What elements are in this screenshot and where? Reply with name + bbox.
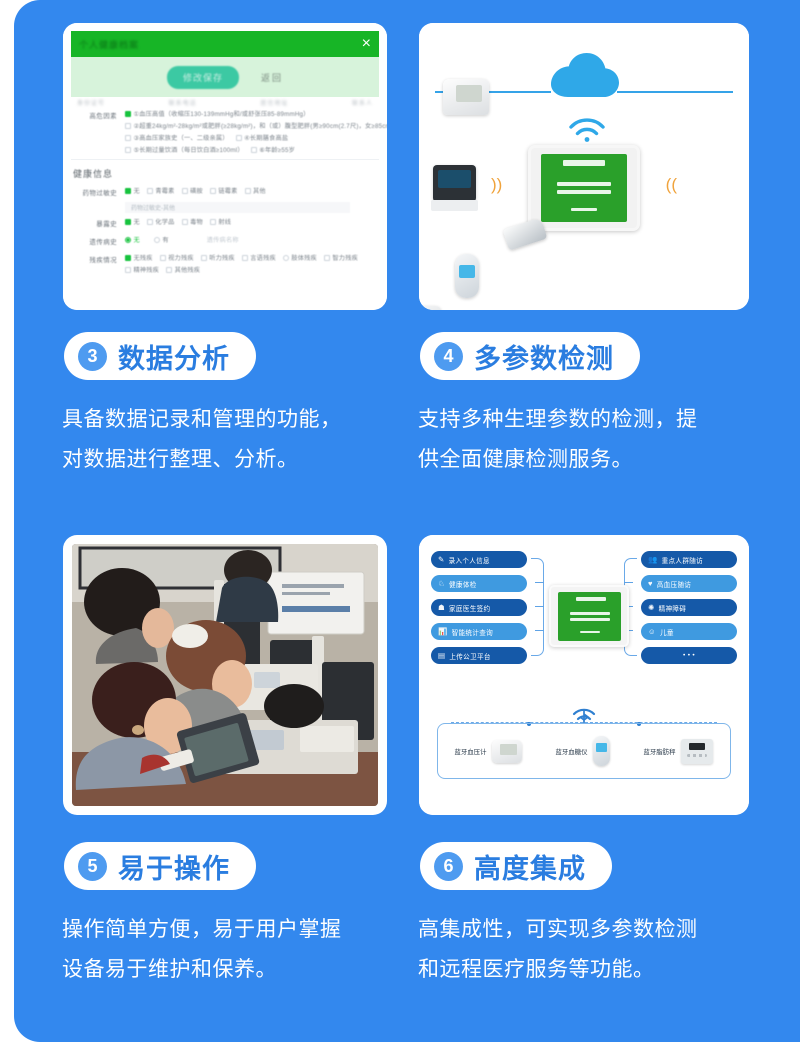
checkbox-icon[interactable]: [160, 255, 166, 261]
device-cell: 蓝牙血糖仪: [556, 736, 611, 766]
card-high-integration-image: ✎ 录入个人信息 ♘ 健康体检 ☗ 家庭医生签约 📊 智能统计查询: [419, 535, 749, 815]
flow-button-label: 健康体检: [449, 579, 477, 589]
checkbox-icon[interactable]: [125, 188, 131, 194]
checkbox-icon[interactable]: [125, 111, 131, 117]
checkbox-option[interactable]: 无: [125, 186, 140, 195]
form-row-risk-factors: 高危因素 ①血压高值（收缩压130-139mmHg和/或舒张压85-89mmHg…: [71, 109, 379, 154]
option-label: ⑤长期过量饮酒（每日饮白酒≥100ml）: [134, 145, 244, 154]
connector-line-right: [617, 91, 733, 93]
option-label: 无: [134, 186, 140, 195]
ghost-field: 居住地址: [260, 98, 288, 107]
blood-pressure-monitor-icon: [443, 79, 489, 115]
description-line: 和远程医疗服务等功能。: [418, 950, 748, 990]
flow-button-label: 家庭医生签约: [449, 603, 490, 613]
flow-button-label: 上传公卫平台: [449, 651, 490, 661]
checkbox-option[interactable]: 射线: [210, 217, 231, 226]
option-label: 射线: [218, 217, 231, 226]
glucose-meter-icon: [455, 254, 479, 298]
ghost-field: 联系电话: [169, 98, 197, 107]
flow-button-left[interactable]: ♘ 健康体检: [431, 575, 527, 592]
checkbox-icon[interactable]: [210, 219, 216, 225]
card-title: 高度集成: [474, 847, 586, 886]
card-description-multiparameter: 支持多种生理参数的检测，提 供全面健康检测服务。: [418, 400, 748, 480]
checkbox-option[interactable]: 青霉素: [147, 186, 175, 195]
option-label: 青霉素: [155, 186, 174, 195]
option-label: 无: [134, 217, 140, 226]
flow-button-label: 智能统计查询: [452, 627, 493, 637]
description-line: 高集成性，可实现多参数检测: [418, 910, 748, 950]
option-label: 肢体残疾: [291, 253, 317, 262]
stethoscope-icon: ♘: [438, 580, 445, 588]
more-icon: • • •: [683, 652, 695, 659]
checkbox-option[interactable]: ①血压高值（收缩压130-139mmHg和/或舒张压85-89mmHg）: [125, 109, 387, 118]
checkbox-option[interactable]: 智力残疾: [324, 253, 358, 262]
card-heading-high-integration: 6 高度集成: [420, 842, 612, 890]
flow-button-right[interactable]: ☺ 儿童: [641, 623, 737, 640]
card-easy-operation-image: [63, 535, 387, 815]
card-title: 数据分析: [118, 337, 230, 376]
checkbox-icon[interactable]: [324, 255, 330, 261]
option-label: 无残疾: [134, 253, 153, 262]
checkbox-option[interactable]: ④长期膳食高盐: [236, 133, 289, 142]
card-number-badge: 4: [434, 342, 463, 371]
form-action-bar: 修改保存 返回: [71, 57, 379, 97]
description-line: 对数据进行整理、分析。: [62, 440, 392, 480]
device-label: 蓝牙血压计: [455, 747, 487, 756]
flow-button-label: 儿童: [660, 627, 674, 637]
form-ghost-fields: 身份证号 联系电话 居住地址 联系人: [77, 97, 373, 107]
checkbox-option[interactable]: ③高血压家族史（一、二级亲属）: [125, 133, 229, 142]
hereditary-name-input[interactable]: 遗传病名称: [207, 235, 239, 244]
checkbox-option[interactable]: ⑥年龄≥55岁: [251, 145, 295, 154]
option-label: 有: [162, 235, 168, 244]
checkbox-option[interactable]: 其他残疾: [166, 265, 200, 274]
form-screenshot: 个人健康档案 × 修改保存 返回 身份证号 联系电话 居住地址 联系人 高危: [63, 23, 387, 310]
blood-pressure-icon: [492, 740, 522, 763]
checkbox-icon[interactable]: [147, 188, 153, 194]
pulse-oximeter-icon: [419, 306, 441, 310]
tablet-screen: [541, 154, 627, 222]
option-label: 无: [134, 235, 140, 244]
device-topology-diagram: )) ((: [419, 23, 749, 310]
radio-icon[interactable]: [125, 237, 131, 243]
drug-allergy-other-input[interactable]: 药物过敏史-其他: [125, 202, 350, 213]
checkbox-option[interactable]: 无: [125, 217, 140, 226]
connector-tick: [535, 630, 544, 631]
card-number-badge: 5: [78, 852, 107, 881]
checkbox-icon[interactable]: [125, 147, 131, 153]
flow-button-label: 高血压随访: [657, 579, 691, 589]
checkbox-icon[interactable]: [182, 219, 188, 225]
connector-tick: [535, 582, 544, 583]
option-label: 听力残疾: [209, 253, 235, 262]
checkbox-option[interactable]: 无残疾: [125, 253, 153, 262]
card-description-data-analysis: 具备数据记录和管理的功能， 对数据进行整理、分析。: [62, 400, 392, 480]
hereditary-option-group: 无 有 遗传病名称: [117, 235, 239, 244]
chart-icon: 📊: [438, 628, 448, 636]
description-line: 供全面健康检测服务。: [418, 440, 748, 480]
checkbox-option[interactable]: 肢体残疾: [283, 253, 317, 262]
card-title: 多参数检测: [474, 337, 614, 376]
flow-button-right[interactable]: ♥ 高血压随访: [641, 575, 737, 592]
checkbox-icon[interactable]: [125, 219, 131, 225]
card-heading-multiparameter: 4 多参数检测: [420, 332, 640, 380]
bluetooth-signal-icon: )): [491, 175, 502, 195]
form-window-title: 个人健康档案: [79, 38, 139, 51]
field-label: 遗传病史: [71, 235, 117, 246]
checkbox-option[interactable]: 磺胺: [182, 186, 203, 195]
checkbox-icon[interactable]: [201, 255, 207, 261]
pen-icon: ✎: [438, 556, 445, 564]
card-description-easy-operation: 操作简单方便，易于用户掌握 设备易于维护和保养。: [62, 910, 392, 990]
checkbox-icon[interactable]: [125, 135, 131, 141]
checkbox-icon[interactable]: [245, 188, 251, 194]
exposure-option-group: 无 化学品 毒物 射线: [117, 217, 231, 226]
card-description-high-integration: 高集成性，可实现多参数检测 和远程医疗服务等功能。: [418, 910, 748, 990]
tablet-screen: [558, 592, 621, 641]
cloud-icon: [551, 53, 619, 104]
device-label: 蓝牙脂肪秤: [644, 747, 676, 756]
device-cell: 蓝牙脂肪秤: [644, 739, 714, 764]
drug-allergy-option-group: 无 青霉素 磺胺 链霉: [117, 186, 266, 195]
divider: [71, 159, 379, 160]
checkbox-option[interactable]: 其他: [245, 186, 266, 195]
flow-button-left[interactable]: 📊 智能统计查询: [431, 623, 527, 640]
option-label: 智力残疾: [332, 253, 358, 262]
tablet-device: [549, 585, 629, 647]
option-label: ⑥年龄≥55岁: [259, 145, 295, 154]
option-label: 精神残疾: [134, 265, 160, 274]
radio-option[interactable]: 有: [154, 235, 169, 244]
upload-icon: ▤: [438, 652, 445, 660]
connector-tick: [535, 606, 544, 607]
card-heading-data-analysis: 3 数据分析: [64, 332, 256, 380]
patient-monitor-icon: [433, 165, 476, 202]
flow-button-label: 精神障碍: [659, 603, 687, 613]
checkbox-icon[interactable]: [125, 123, 131, 129]
ghost-field: 身份证号: [77, 98, 105, 107]
checkbox-option[interactable]: 听力残疾: [201, 253, 235, 262]
flow-button-left[interactable]: ▤ 上传公卫平台: [431, 647, 527, 664]
flow-button-label: 录入个人信息: [449, 555, 490, 565]
device-cell: 蓝牙血压计: [455, 740, 523, 763]
checkbox-icon[interactable]: [236, 135, 242, 141]
bluetooth-device-bar: 蓝牙血压计 蓝牙血糖仪 蓝牙脂肪秤: [437, 723, 731, 779]
feature-grid: 个人健康档案 × 修改保存 返回 身份证号 联系电话 居住地址 联系人 高危: [0, 0, 800, 1064]
bluetooth-signal-icon: ((: [666, 175, 677, 195]
option-label: ④长期膳食高盐: [244, 133, 288, 142]
description-line: 支持多种生理参数的检测，提: [418, 400, 748, 440]
training-photo: [72, 544, 378, 806]
child-icon: ☺: [648, 628, 656, 636]
checkbox-icon[interactable]: [125, 267, 131, 273]
close-icon[interactable]: ×: [362, 36, 371, 52]
checkbox-icon[interactable]: [182, 188, 188, 194]
description-line: 设备易于维护和保养。: [62, 950, 392, 990]
checkbox-icon[interactable]: [147, 219, 153, 225]
form-row-hereditary: 遗传病史 无 有 遗传病名称: [71, 235, 379, 246]
section-title-health-info: 健康信息: [73, 167, 379, 180]
option-label: 毒物: [190, 217, 203, 226]
flow-button-left[interactable]: ☗ 家庭医生签约: [431, 599, 527, 616]
back-button[interactable]: 返回: [261, 71, 283, 84]
checkbox-icon[interactable]: [242, 255, 248, 261]
checkbox-option[interactable]: 化学品: [147, 217, 175, 226]
field-label: 高危因素: [71, 109, 117, 120]
card-data-analysis-image: 个人健康档案 × 修改保存 返回 身份证号 联系电话 居住地址 联系人 高危: [63, 23, 387, 310]
form-row-drug-allergy: 药物过敏史 无 青霉素 磺: [71, 186, 379, 197]
ghost-field: 联系人: [352, 98, 373, 107]
checkbox-icon[interactable]: [166, 267, 172, 273]
card-heading-easy-operation: 5 易于操作: [64, 842, 256, 890]
option-label: 其他残疾: [175, 265, 201, 274]
card-number-badge: 3: [78, 342, 107, 371]
description-line: 具备数据记录和管理的功能，: [62, 400, 392, 440]
checkbox-option[interactable]: ⑤长期过量饮酒（每日饮白酒≥100ml）: [125, 145, 244, 154]
option-label: 视力残疾: [168, 253, 194, 262]
save-button[interactable]: 修改保存: [167, 66, 239, 89]
option-label: ③高血压家族史（一、二级亲属）: [134, 133, 229, 142]
risk-option-group: ①血压高值（收缩压130-139mmHg和/或舒张压85-89mmHg） ②超重…: [117, 109, 387, 154]
checkbox-option[interactable]: 毒物: [182, 217, 203, 226]
flow-button-right[interactable]: 👥 重点人群随访: [641, 551, 737, 568]
heart-icon: ♥: [648, 580, 653, 588]
doctor-icon: ☗: [438, 604, 445, 612]
integration-flow-diagram: ✎ 录入个人信息 ♘ 健康体检 ☗ 家庭医生签约 📊 智能统计查询: [419, 535, 749, 815]
card-title: 易于操作: [118, 847, 230, 886]
checkbox-option[interactable]: 精神残疾: [125, 265, 159, 274]
form-row-disability: 残疾情况 无残疾 视力残疾: [71, 253, 379, 274]
fat-scale-icon: [681, 739, 713, 764]
checkbox-icon[interactable]: [283, 255, 289, 261]
device-label: 蓝牙血糖仪: [556, 747, 588, 756]
checkbox-icon[interactable]: [251, 147, 257, 153]
flow-button-more[interactable]: • • •: [641, 647, 737, 664]
checkbox-option[interactable]: 链霉素: [210, 186, 238, 195]
checkbox-icon[interactable]: [210, 188, 216, 194]
wifi-icon: [567, 118, 607, 147]
flow-button-left[interactable]: ✎ 录入个人信息: [431, 551, 527, 568]
flow-button-label: 重点人群随访: [662, 555, 703, 565]
tablet-device: [528, 145, 640, 231]
checkbox-option[interactable]: 视力残疾: [160, 253, 194, 262]
card-number-badge: 6: [434, 852, 463, 881]
checkbox-option[interactable]: 言语残疾: [242, 253, 276, 262]
form-body: 高危因素 ①血压高值（收缩压130-139mmHg和/或舒张压85-89mmHg…: [71, 109, 379, 304]
checkbox-icon[interactable]: [125, 255, 131, 261]
connector-tick: [624, 582, 633, 583]
option-label: 链霉素: [218, 186, 237, 195]
barcode-scanner-icon: [503, 217, 548, 250]
card-multiparameter-image: )) ((: [419, 23, 749, 310]
brain-icon: ✺: [648, 604, 655, 612]
checkbox-option[interactable]: ②超重24kg/m²-28kg/m²或肥胖(≥28kg/m²)，和（或）腹型肥胖…: [125, 121, 387, 130]
field-label: 残疾情况: [71, 253, 117, 264]
option-label: 言语残疾: [250, 253, 276, 262]
option-label: ②超重24kg/m²-28kg/m²或肥胖(≥28kg/m²)，和（或）腹型肥胖…: [134, 121, 388, 130]
glucose-meter-icon: [593, 736, 610, 766]
flow-button-right[interactable]: ✺ 精神障碍: [641, 599, 737, 616]
form-row-exposure: 暴露史 无 化学品 毒物: [71, 217, 379, 228]
description-line: 操作简单方便，易于用户掌握: [62, 910, 392, 950]
disability-option-group: 无残疾 视力残疾 听力残疾: [117, 253, 379, 274]
field-label: 暴露史: [71, 217, 117, 228]
page-root: 个人健康档案 × 修改保存 返回 身份证号 联系电话 居住地址 联系人 高危: [0, 0, 800, 1064]
option-label: 其他: [253, 186, 266, 195]
option-label: 磺胺: [190, 186, 203, 195]
radio-icon[interactable]: [154, 237, 160, 243]
option-label: 化学品: [155, 217, 174, 226]
option-label: ①血压高值（收缩压130-139mmHg和/或舒张压85-89mmHg）: [134, 109, 310, 118]
people-icon: 👥: [648, 556, 658, 564]
radio-option[interactable]: 无: [125, 235, 140, 244]
form-titlebar: 个人健康档案 ×: [71, 31, 379, 57]
field-label: 药物过敏史: [71, 186, 117, 197]
